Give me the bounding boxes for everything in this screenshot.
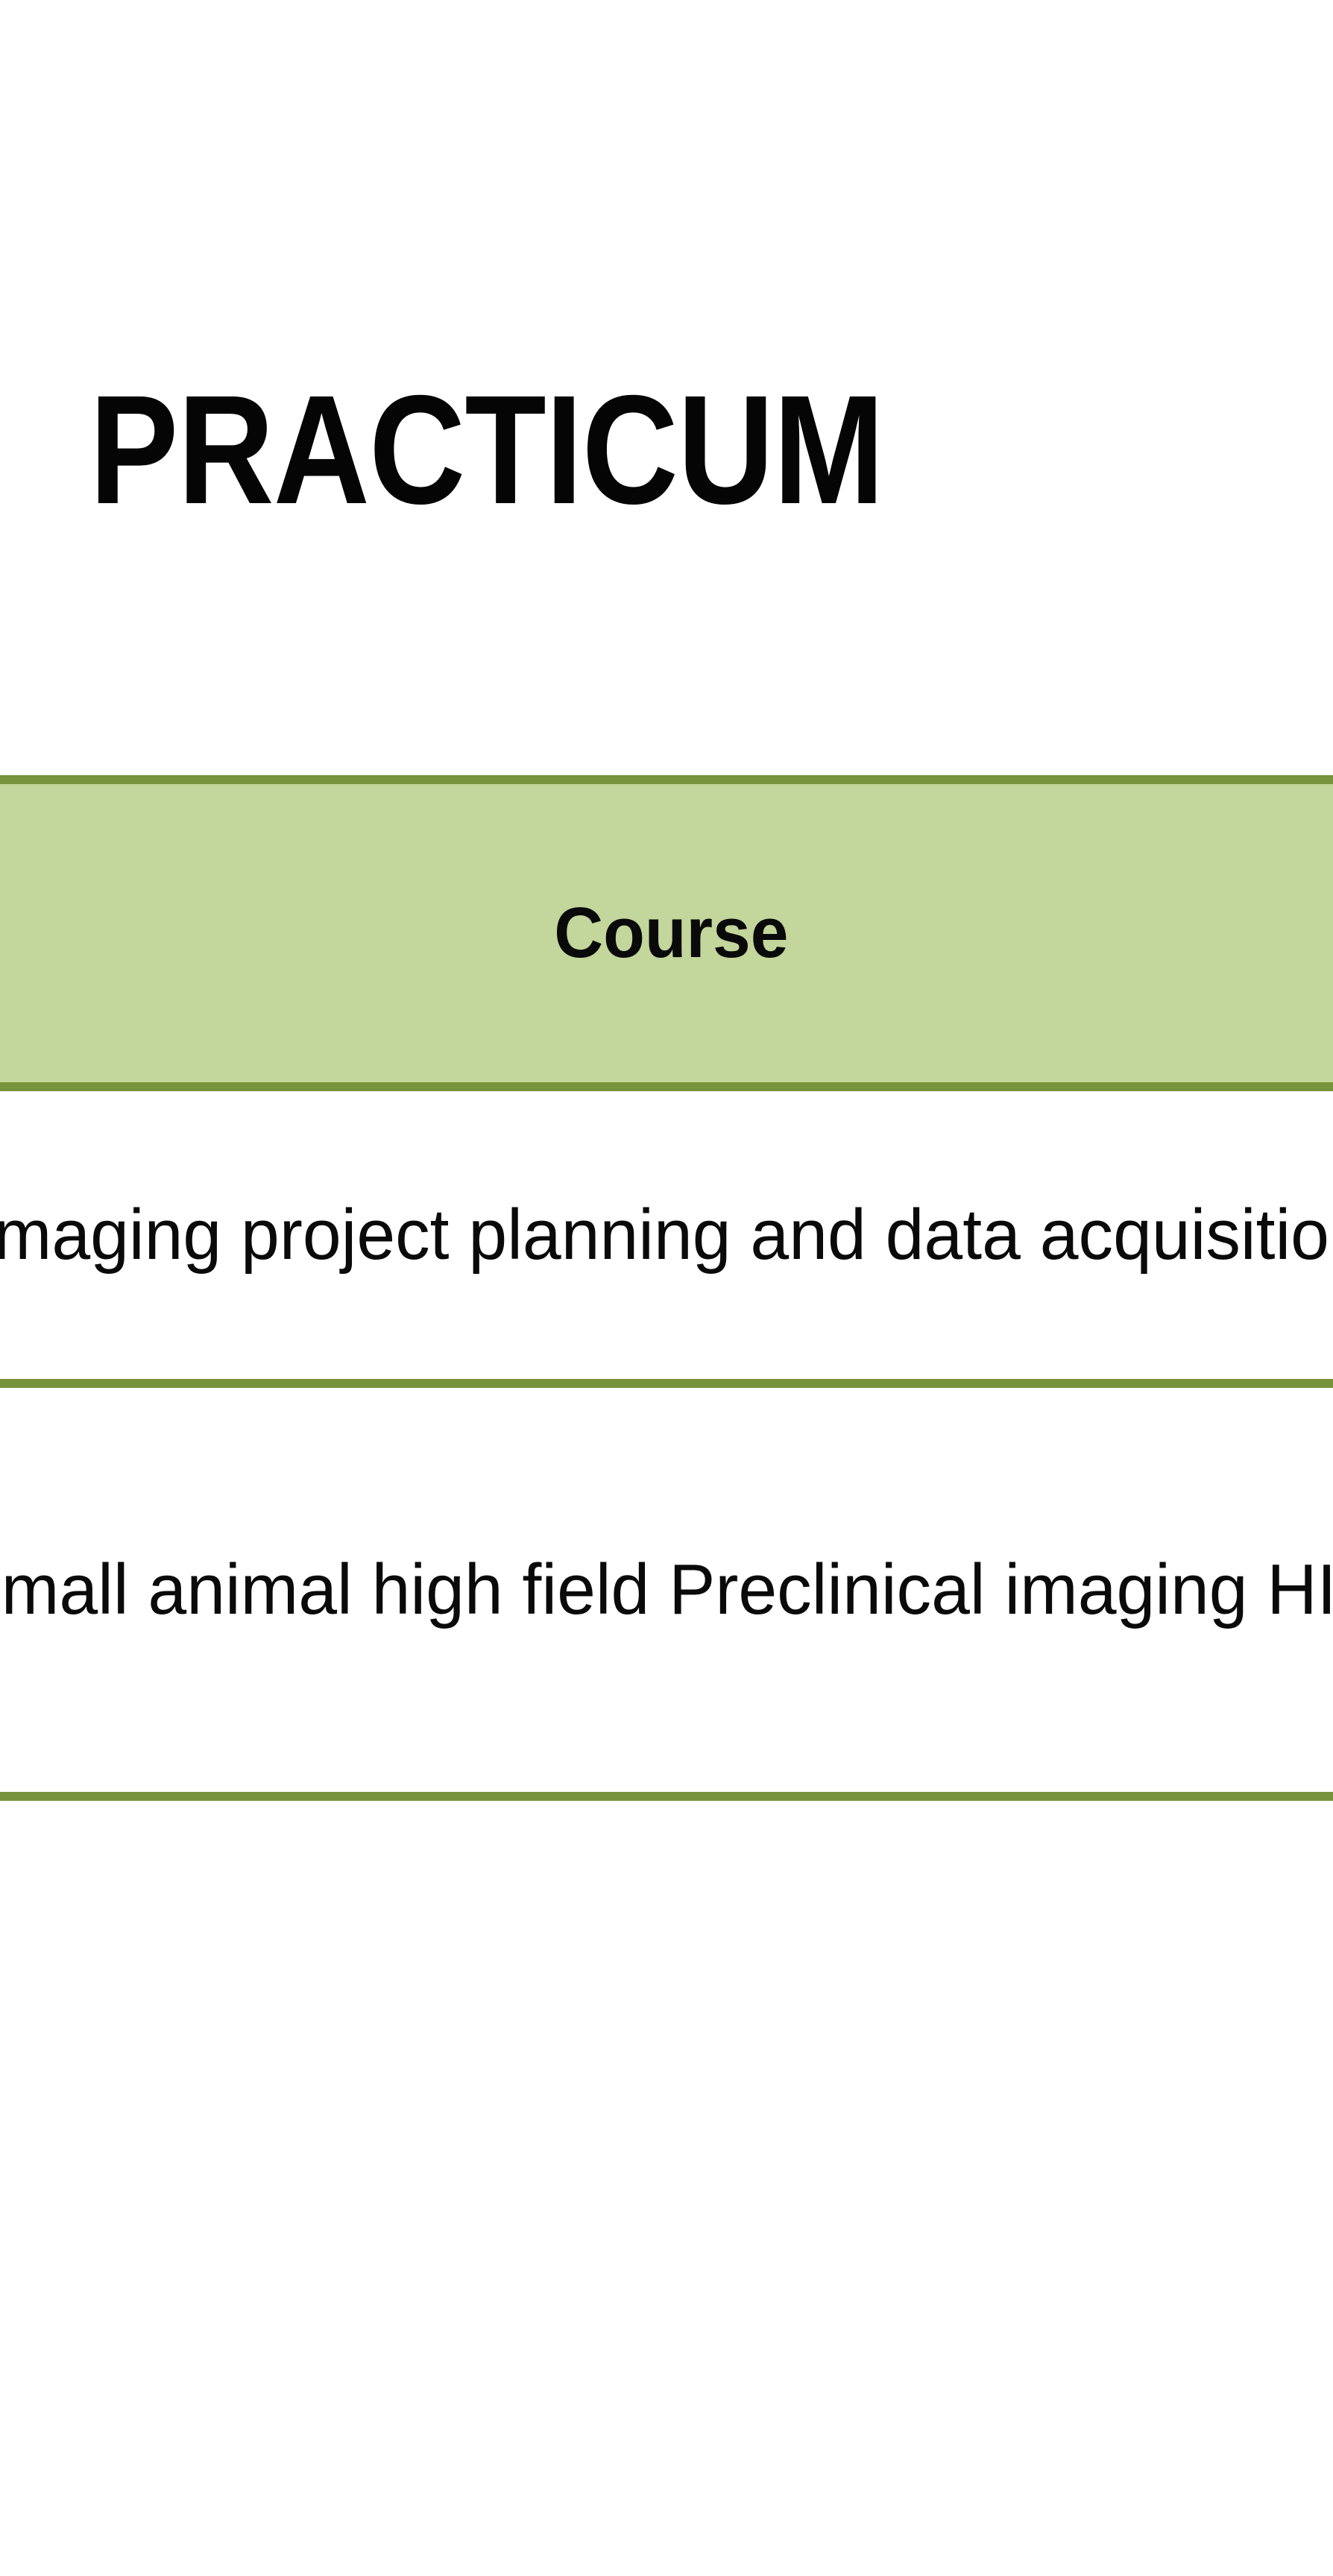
cell-course: Imaging project planning and data acquis… xyxy=(0,1087,1333,1383)
cell-course: Small animal high field Preclinical imag… xyxy=(0,1383,1333,1796)
table-row[interactable]: Imaging project planning and data acquis… xyxy=(0,1087,1333,1383)
cell-course-text: Small animal high field Preclinical imag… xyxy=(0,1545,1333,1635)
table-header-row: Course xyxy=(0,780,1333,1087)
slide-page: PRACTICUM Course Imaging project plannin… xyxy=(0,0,1333,2576)
table-row[interactable]: Small animal high field Preclinical imag… xyxy=(0,1383,1333,1796)
column-header-course-label: Course xyxy=(554,896,788,971)
course-table: Course Imaging project planning and data… xyxy=(0,775,1333,1801)
column-header-course: Course xyxy=(0,780,1333,1087)
cell-course-text: Imaging project planning and data acquis… xyxy=(0,1190,1333,1281)
page-title: PRACTICUM xyxy=(89,373,883,528)
